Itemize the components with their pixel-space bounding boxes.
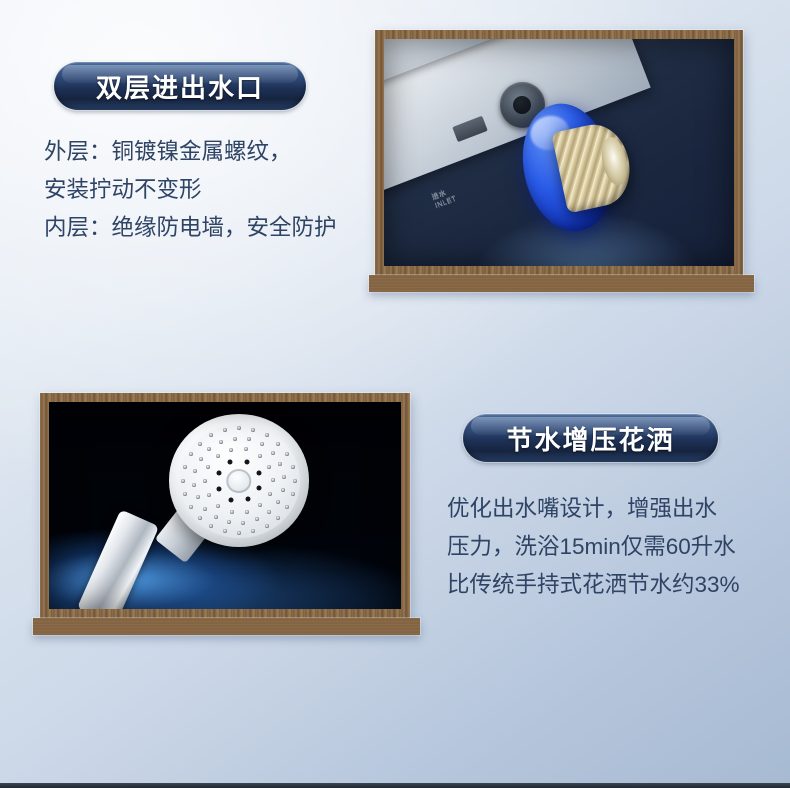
spray-nozzle: [265, 524, 269, 528]
spray-nozzle: [192, 483, 196, 487]
spray-nozzle: [276, 516, 280, 520]
spray-nozzle: [230, 510, 234, 514]
spray-nozzle-dark: [217, 486, 222, 491]
copy-water-saving-shower: 优化出水嘴设计，增强出水 压力，洗浴15min仅需60升水 比传统手持式花洒节水…: [447, 490, 740, 604]
shower-head-photo: [49, 402, 401, 609]
shower-handle: [77, 509, 159, 609]
spray-nozzle: [229, 448, 233, 452]
copy-inlet-outlet: 外层：铜镀镍金属螺纹， 安装拧动不变形 内层：绝缘防电墙，安全防护: [44, 133, 337, 247]
shower-center-hub: [226, 469, 251, 493]
spray-nozzle: [207, 493, 211, 497]
spray-nozzle-dark: [257, 470, 262, 475]
inlet-label: 进水 INLET: [431, 185, 458, 210]
spray-nozzle: [276, 442, 280, 446]
copy-line: 内层：绝缘防电墙，安全防护: [44, 209, 337, 247]
spray-nozzle-dark: [245, 459, 250, 464]
wood-frame: [40, 393, 410, 618]
spray-nozzle: [244, 447, 248, 451]
copy-line: 比传统手持式花洒节水约33%: [447, 566, 740, 604]
spray-nozzle: [276, 500, 280, 504]
spray-nozzle: [209, 433, 213, 437]
spray-nozzle: [258, 503, 262, 507]
spray-nozzle: [207, 447, 211, 451]
spray-nozzle: [223, 428, 227, 432]
wood-frame: 进水 INLET: [375, 30, 743, 275]
spray-nozzle: [278, 462, 282, 466]
wood-shelf-ledge: [33, 618, 420, 635]
spray-nozzle: [189, 452, 193, 456]
spray-nozzle: [271, 451, 275, 455]
wood-shelf-ledge: [369, 275, 754, 292]
spray-nozzle: [189, 505, 193, 509]
spray-nozzle: [183, 465, 187, 469]
spray-nozzle: [216, 504, 220, 508]
spray-nozzle: [203, 479, 207, 483]
spray-nozzle: [241, 521, 245, 525]
spray-nozzle: [282, 475, 286, 479]
spray-nozzle: [251, 529, 255, 533]
spray-nozzle: [285, 452, 289, 456]
spray-nozzle: [268, 492, 272, 496]
spray-nozzle: [183, 492, 187, 496]
spray-nozzle-dark: [228, 459, 233, 464]
badge-water-saving-shower: 节水增压花洒: [463, 414, 718, 462]
spray-nozzle: [233, 437, 237, 441]
spray-nozzle: [281, 488, 285, 492]
spray-nozzle: [206, 465, 210, 469]
spray-nozzle: [203, 507, 207, 511]
spray-nozzle: [214, 515, 218, 519]
product-feature-page: 双层进出水口 外层：铜镀镍金属螺纹， 安装拧动不变形 内层：绝缘防电墙，安全防护…: [0, 0, 790, 788]
photo-viewport: 进水 INLET: [384, 39, 734, 266]
spray-nozzle: [209, 524, 213, 528]
spray-nozzle: [198, 516, 202, 520]
spray-nozzle-dark: [228, 497, 233, 502]
spray-nozzle: [267, 465, 271, 469]
spray-nozzle: [258, 454, 262, 458]
badge-inlet-outlet-label: 双层进出水口: [96, 68, 264, 105]
spray-nozzle: [216, 454, 220, 458]
spray-nozzle: [251, 428, 255, 432]
spray-nozzle: [260, 442, 264, 446]
spray-nozzle: [255, 517, 259, 521]
spray-nozzle: [267, 510, 271, 514]
spray-nozzle: [193, 469, 197, 473]
photo-viewport: [49, 402, 401, 609]
copy-line: 外层：铜镀镍金属螺纹，: [44, 133, 337, 171]
spray-nozzle-dark: [216, 471, 221, 476]
spray-nozzle-dark: [245, 497, 250, 502]
spray-nozzle: [199, 457, 203, 461]
copy-line: 压力，洗浴15min仅需60升水: [447, 528, 740, 566]
spray-nozzle: [293, 479, 297, 483]
badge-water-saving-shower-label: 节水增压花洒: [506, 420, 674, 457]
shower-spray-face: [179, 424, 300, 538]
badge-inlet-outlet: 双层进出水口: [54, 62, 306, 110]
spray-nozzle: [291, 492, 295, 496]
water-inlet-outlet-photo: 进水 INLET: [384, 39, 734, 266]
spray-nozzle: [271, 478, 275, 482]
copy-line: 安装拧动不变形: [44, 171, 337, 209]
spray-nozzle: [247, 437, 251, 441]
spray-nozzle: [265, 433, 269, 437]
spray-nozzle: [181, 479, 185, 483]
spray-nozzle: [291, 465, 295, 469]
spray-nozzle: [198, 442, 202, 446]
spray-nozzle: [196, 495, 200, 499]
nipple-bore: [598, 135, 631, 188]
spray-nozzle-dark: [257, 486, 262, 491]
spray-nozzle: [237, 531, 241, 535]
spray-nozzle: [245, 510, 249, 514]
spray-nozzle: [223, 529, 227, 533]
bottom-edge-band: [0, 783, 790, 788]
spray-nozzle: [285, 505, 289, 509]
spray-nozzle: [227, 520, 231, 524]
spray-nozzle: [237, 426, 241, 430]
shower-head: [169, 414, 310, 546]
copy-line: 优化出水嘴设计，增强出水: [447, 490, 740, 528]
spray-nozzle: [219, 440, 223, 444]
